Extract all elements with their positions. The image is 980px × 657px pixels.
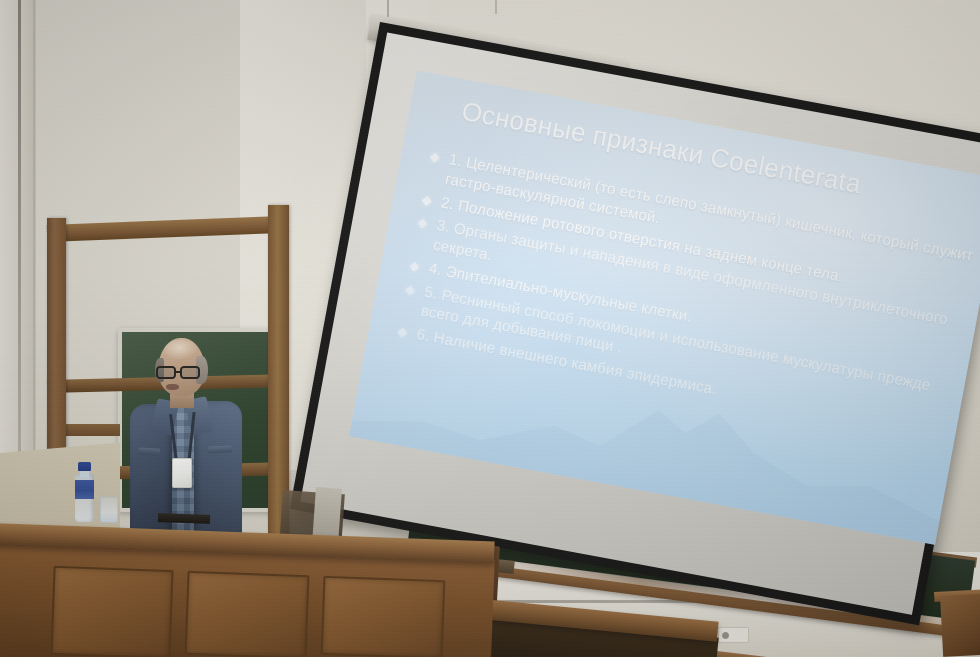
wall-power-socket bbox=[718, 627, 749, 643]
water-bottle-label bbox=[75, 480, 94, 499]
presenter-belt bbox=[158, 513, 210, 524]
wall-corner-seam bbox=[18, 0, 21, 470]
presenter-head-highlight bbox=[164, 340, 198, 360]
glasses-bridge bbox=[176, 371, 180, 373]
water-bottle-neck bbox=[80, 470, 89, 477]
presenter-mouth bbox=[166, 384, 179, 390]
wall-corner-seam-secondary bbox=[33, 0, 35, 455]
water-bottle-cap bbox=[78, 462, 91, 471]
screen-mount-rod-right bbox=[495, 0, 497, 14]
podium-panel-2 bbox=[185, 571, 310, 657]
lecture-hall-scene: Основные признаки Coelenterata 1. Целент… bbox=[0, 0, 980, 657]
podium-panel-3 bbox=[321, 576, 446, 657]
drinking-glass bbox=[100, 497, 118, 523]
far-right-stand bbox=[940, 593, 980, 657]
projection-screen-surface: Основные признаки Coelenterata 1. Целент… bbox=[300, 32, 980, 614]
presenter-jacket-pocket-right bbox=[208, 445, 232, 453]
wall-frame-post-right bbox=[268, 205, 289, 535]
name-badge bbox=[172, 458, 192, 488]
side-cabinet-post bbox=[312, 487, 342, 541]
presenter-jacket-pocket-left bbox=[138, 447, 160, 455]
presenter bbox=[128, 338, 258, 543]
podium-panel-1 bbox=[50, 566, 173, 657]
glasses-lens-right bbox=[180, 366, 200, 379]
glasses-lens-left bbox=[156, 366, 176, 379]
presenter-glasses bbox=[156, 366, 206, 379]
presentation-slide: Основные признаки Coelenterata 1. Целент… bbox=[349, 71, 980, 545]
